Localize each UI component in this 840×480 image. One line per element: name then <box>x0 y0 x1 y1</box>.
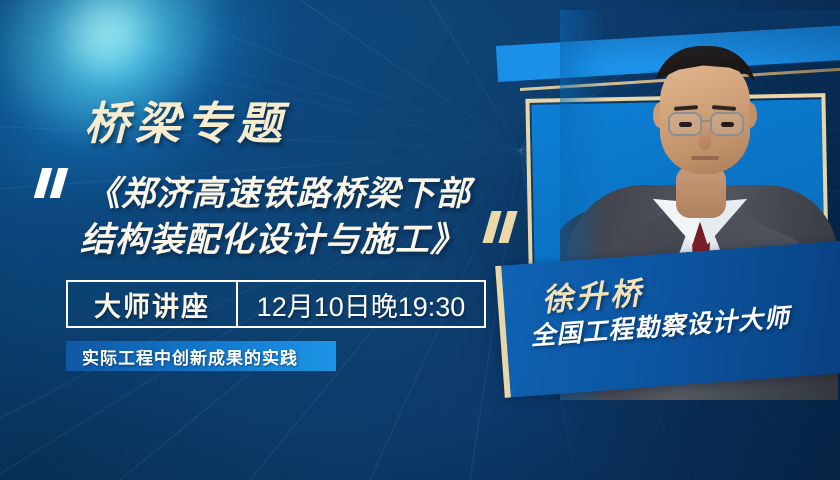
open-quote-mark <box>38 168 72 200</box>
tagline-bar: 实际工程中创新成果的实践 <box>66 341 336 371</box>
lecture-badge-label: 大师讲座 <box>94 285 210 324</box>
lecture-datetime-label: 12月10日晚19:30 <box>257 285 466 324</box>
lecture-datetime: 12月10日晚19:30 <box>238 282 484 326</box>
lecture-title-line1: 《郑济高速铁路桥梁下部 <box>86 175 471 213</box>
lecture-badge: 大师讲座 <box>68 282 238 326</box>
tagline-label: 实际工程中创新成果的实践 <box>82 344 298 369</box>
poster-canvas: 徐升桥 全国工程勘察设计大师 桥梁专题 《郑济高速铁路桥梁下部 结构装配化设计与… <box>0 0 840 480</box>
lecture-info-box: 大师讲座 12月10日晚19:30 <box>66 280 486 328</box>
lecture-title-line2: 结构装配化设计与施工》 <box>80 218 506 264</box>
speaker-name-group: 徐升桥 全国工程勘察设计大师 <box>495 240 840 397</box>
topic-title: 桥梁专题 <box>84 101 288 146</box>
lecture-title: 《郑济高速铁路桥梁下部 结构装配化设计与施工》 <box>86 172 506 264</box>
